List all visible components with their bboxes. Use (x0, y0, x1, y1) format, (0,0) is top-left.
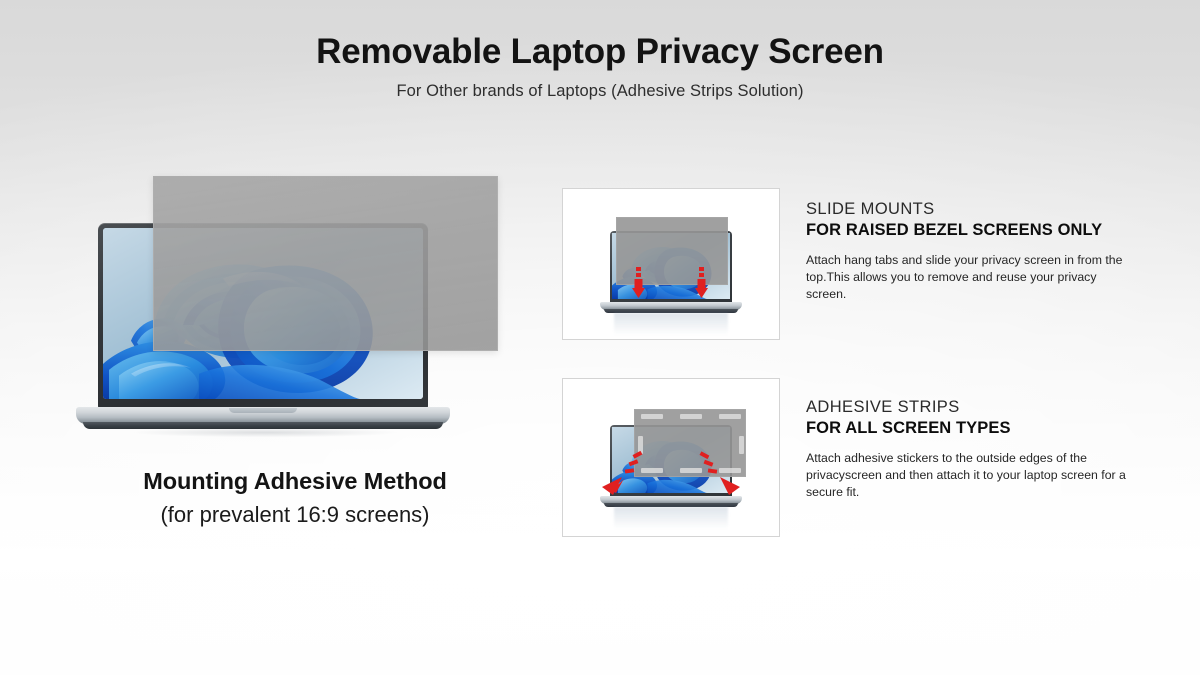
thumbnail-slide-mounts (562, 188, 780, 340)
mini-laptop-adhesive (596, 403, 746, 503)
adhesive-pad (680, 468, 702, 473)
laptop-base (76, 407, 450, 424)
feature-text-slide-mounts: SLIDE MOUNTS FOR RAISED BEZEL SCREENS ON… (806, 188, 1136, 303)
feature-body: Attach adhesive stickers to the outside … (806, 450, 1136, 501)
mini-laptop-slide (596, 209, 746, 309)
thumbnail-adhesive-strips (562, 378, 780, 537)
privacy-screen-film (153, 176, 498, 351)
feature-kicker: ADHESIVE STRIPS (806, 398, 1136, 417)
hero-caption: Mounting Adhesive Method (for prevalent … (60, 468, 530, 528)
mini-laptop-base (600, 496, 742, 504)
feature-text-adhesive-strips: ADHESIVE STRIPS FOR ALL SCREEN TYPES Att… (806, 378, 1136, 501)
mini-laptop-reflection (614, 507, 728, 529)
adhesive-pad (638, 436, 643, 454)
adhesive-pad (719, 468, 741, 473)
hero-caption-line1: Mounting Adhesive Method (60, 468, 530, 495)
laptop-hinge-notch (229, 408, 297, 413)
adhesive-pad (739, 436, 744, 454)
feature-row-slide-mounts: SLIDE MOUNTS FOR RAISED BEZEL SCREENS ON… (562, 188, 1136, 340)
page-subtitle: For Other brands of Laptops (Adhesive St… (0, 82, 1200, 101)
page-title: Removable Laptop Privacy Screen (0, 32, 1200, 71)
adhesive-pad (680, 414, 702, 419)
adhesive-pad (641, 468, 663, 473)
feature-body: Attach hang tabs and slide your privacy … (806, 252, 1136, 303)
hero-illustration: Mounting Adhesive Method (for prevalent … (60, 168, 510, 468)
privacy-screen-film-sliding (616, 217, 728, 285)
mini-laptop-reflection (614, 313, 728, 335)
adhesive-pad (719, 414, 741, 419)
header: Removable Laptop Privacy Screen For Othe… (0, 32, 1200, 101)
mini-laptop-base (600, 302, 742, 310)
feature-headline: FOR ALL SCREEN TYPES (806, 419, 1136, 439)
privacy-screen-film-adhesive (634, 409, 746, 477)
adhesive-pad (641, 414, 663, 419)
feature-headline: FOR RAISED BEZEL SCREENS ONLY (806, 221, 1136, 241)
infographic-poster: Removable Laptop Privacy Screen For Othe… (0, 0, 1200, 675)
feature-row-adhesive-strips: ADHESIVE STRIPS FOR ALL SCREEN TYPES Att… (562, 378, 1136, 537)
feature-kicker: SLIDE MOUNTS (806, 200, 1136, 219)
hero-caption-line2: (for prevalent 16:9 screens) (60, 502, 530, 528)
